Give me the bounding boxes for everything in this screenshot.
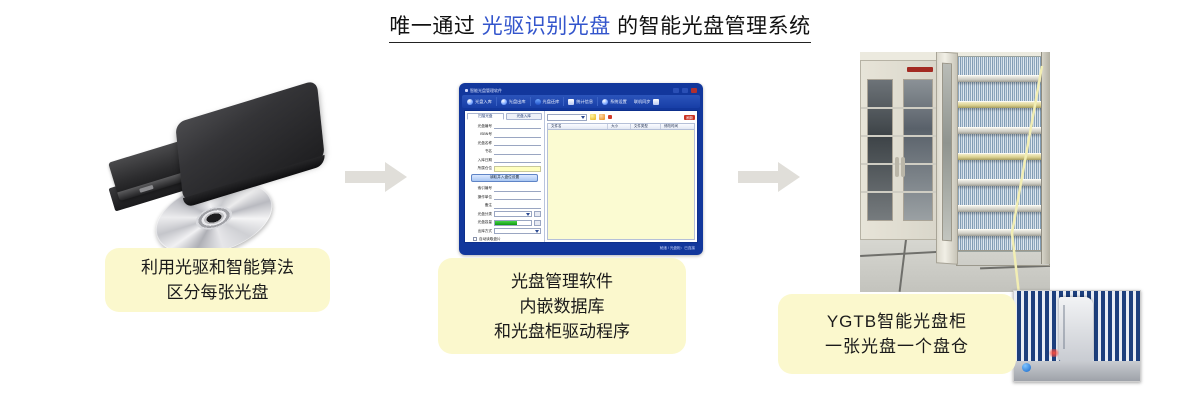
glass-pane-right: [903, 79, 933, 221]
disc-category-select[interactable]: [494, 211, 532, 217]
drive-path-select[interactable]: [547, 114, 587, 121]
slot-input[interactable]: [494, 166, 541, 172]
capacity-progress-bar: [494, 220, 532, 226]
slot-base: [1014, 361, 1140, 381]
arrow-right-icon: [738, 162, 800, 192]
disc-slot-closeup-photo: [1013, 290, 1141, 382]
caption-step-3: YGTB智能光盘柜 一张光盘一个盘仓: [778, 294, 1016, 374]
cabinet-closed-section: [860, 60, 938, 240]
title-highlight: 光驱识别光盘: [482, 15, 611, 38]
toolbar-divider: [530, 97, 531, 106]
menu-label: 光盘入库: [475, 99, 492, 105]
folder-open-icon[interactable]: [590, 114, 596, 120]
field-remark[interactable]: 备注: [468, 203, 541, 209]
file-list-body[interactable]: [547, 130, 695, 240]
menu-item-report[interactable]: 统计信息: [565, 96, 596, 107]
field-in-date[interactable]: 入库日期: [468, 157, 541, 163]
left-form-panel: 扫描光盘 光盘入库 光盘编号 ISBN号 光盘名称 书名: [465, 111, 545, 242]
menu-item-disc-out[interactable]: 光盘出库: [498, 96, 529, 107]
file-browser-panel: 刷新 文件名 大小 文件类型 修改时间: [545, 111, 697, 242]
field-operator[interactable]: 操作单位: [468, 194, 541, 200]
menu-item-disc-return[interactable]: 光盘还库: [532, 96, 563, 107]
disc-no-input[interactable]: [494, 123, 541, 129]
menu-item-sync[interactable]: 联机同步: [631, 96, 662, 107]
arrow-right-icon: [345, 162, 407, 192]
refresh-control[interactable]: 刷新: [684, 115, 695, 120]
door-handle: [895, 157, 899, 177]
caption-line: 一张光盘一个盘仓: [825, 334, 969, 359]
sync-icon: [653, 99, 659, 105]
glass-pane-left: [867, 79, 893, 221]
menu-label: 光盘还库: [543, 99, 560, 105]
toolbar-divider: [496, 97, 497, 106]
category-apply-button[interactable]: [534, 211, 541, 217]
cabinet-open-section: [956, 56, 1050, 252]
remark-input[interactable]: [494, 203, 541, 209]
title-tail: 的智能光盘管理系统: [617, 15, 811, 38]
app-logo-icon: [465, 89, 468, 92]
file-browser-toolbar[interactable]: 刷新: [547, 113, 695, 121]
isbn-input[interactable]: [494, 132, 541, 138]
toolbar-divider: [597, 97, 598, 106]
red-indicator-light: [1048, 349, 1060, 357]
field-index-no[interactable]: 索引编号: [468, 186, 541, 192]
field-disc-name[interactable]: 光盘名称: [468, 140, 541, 146]
report-icon: [568, 99, 574, 105]
cabinet-label: [907, 67, 933, 72]
cabinet-open-glass-door: [936, 52, 958, 265]
cabinet-plinth: [956, 250, 1050, 266]
stop-icon[interactable]: [608, 115, 612, 119]
app-title: 智能光盘管理软件: [470, 88, 502, 94]
panel-tabs[interactable]: 扫描光盘 光盘入库: [467, 113, 542, 120]
app-toolbar[interactable]: 光盘入库 光盘出库 光盘还库 统计信息 系统设置 联: [462, 95, 700, 108]
cabinet-right-frame: [1041, 52, 1050, 264]
read-and-assign-slot-button[interactable]: 读取并入盘位设置: [471, 174, 538, 182]
disc-out-icon: [501, 99, 507, 105]
menu-label: 系统设置: [610, 99, 627, 105]
operator-input[interactable]: [494, 194, 541, 200]
field-disc-category[interactable]: 光盘分类: [468, 211, 541, 217]
index-no-input[interactable]: [494, 186, 541, 192]
caption-line: 利用光驱和智能算法: [141, 255, 294, 280]
door-handle: [901, 157, 905, 177]
toolbar-divider: [563, 97, 564, 106]
caption-line: YGTB智能光盘柜: [827, 309, 967, 334]
app-content: 扫描光盘 光盘入库 光盘编号 ISBN号 光盘名称 书名: [464, 110, 698, 243]
folder-icon[interactable]: [599, 114, 605, 120]
caption-line: 内嵌数据库: [520, 294, 605, 319]
book-name-input[interactable]: [494, 149, 541, 155]
field-book-name[interactable]: 书名: [468, 149, 541, 155]
tab-disc-in[interactable]: 光盘入库: [506, 113, 543, 120]
tab-scan-disc[interactable]: 扫描光盘: [467, 113, 504, 120]
gear-icon: [602, 99, 608, 105]
in-date-input[interactable]: [494, 157, 541, 163]
menu-label: 联机同步: [634, 99, 651, 105]
field-out-mode[interactable]: 出库方式: [468, 228, 541, 234]
disc-management-software-window[interactable]: 智能光盘管理软件 光盘入库 光盘出库 光盘还库: [459, 83, 703, 255]
minimize-button[interactable]: [673, 88, 679, 93]
menu-item-settings[interactable]: 系统设置: [599, 96, 630, 107]
drive-lid: [175, 80, 325, 202]
app-title-bar: 智能光盘管理软件: [462, 86, 700, 95]
caption-step-1: 利用光驱和智能算法 区分每张光盘: [105, 248, 330, 312]
menu-label: 光盘出库: [509, 99, 526, 105]
external-dvd-drive-photo: [110, 96, 330, 226]
field-disc-no[interactable]: 光盘编号: [468, 123, 541, 129]
capacity-stepper[interactable]: [534, 220, 541, 226]
status-bar: 就绪 / 光盘柜：已连接: [464, 244, 698, 253]
door-glass: [942, 63, 952, 242]
disc-return-icon: [535, 99, 541, 105]
caption-line: 区分每张光盘: [167, 280, 269, 305]
title-lead: 唯一通过: [389, 15, 475, 38]
menu-label: 统计信息: [576, 99, 593, 105]
out-mode-select[interactable]: [494, 228, 541, 234]
disc-name-input[interactable]: [494, 140, 541, 146]
caption-step-2: 光盘管理软件 内嵌数据库 和光盘柜驱动程序: [438, 258, 686, 354]
refresh-button[interactable]: 刷新: [684, 115, 695, 120]
disc-in-icon: [467, 99, 473, 105]
checkbox-box[interactable]: [473, 237, 477, 241]
auto-read-checkbox[interactable]: 自动读取盘片: [473, 237, 542, 242]
file-list-header: 文件名 大小 文件类型 修改时间: [547, 123, 695, 130]
caption-line: 和光盘柜驱动程序: [494, 319, 630, 344]
field-disc-capacity[interactable]: 光盘容量: [468, 220, 541, 226]
caption-line: 光盘管理软件: [511, 269, 613, 294]
menu-item-disc-in[interactable]: 光盘入库: [464, 96, 495, 107]
field-isbn[interactable]: ISBN号: [468, 132, 541, 138]
slide-root: 唯一通过 光驱识别光盘 的智能光盘管理系统 智能光盘管理软件: [0, 0, 1200, 400]
page-title: 唯一通过 光驱识别光盘 的智能光盘管理系统: [0, 13, 1200, 43]
robot-gripper: [1059, 297, 1093, 361]
maximize-button[interactable]: [682, 88, 688, 93]
disc-cabinet-photo: [860, 52, 1050, 292]
field-slot[interactable]: 所属仓位: [468, 166, 541, 172]
blue-indicator-light: [1022, 363, 1031, 372]
close-button[interactable]: [691, 88, 697, 93]
